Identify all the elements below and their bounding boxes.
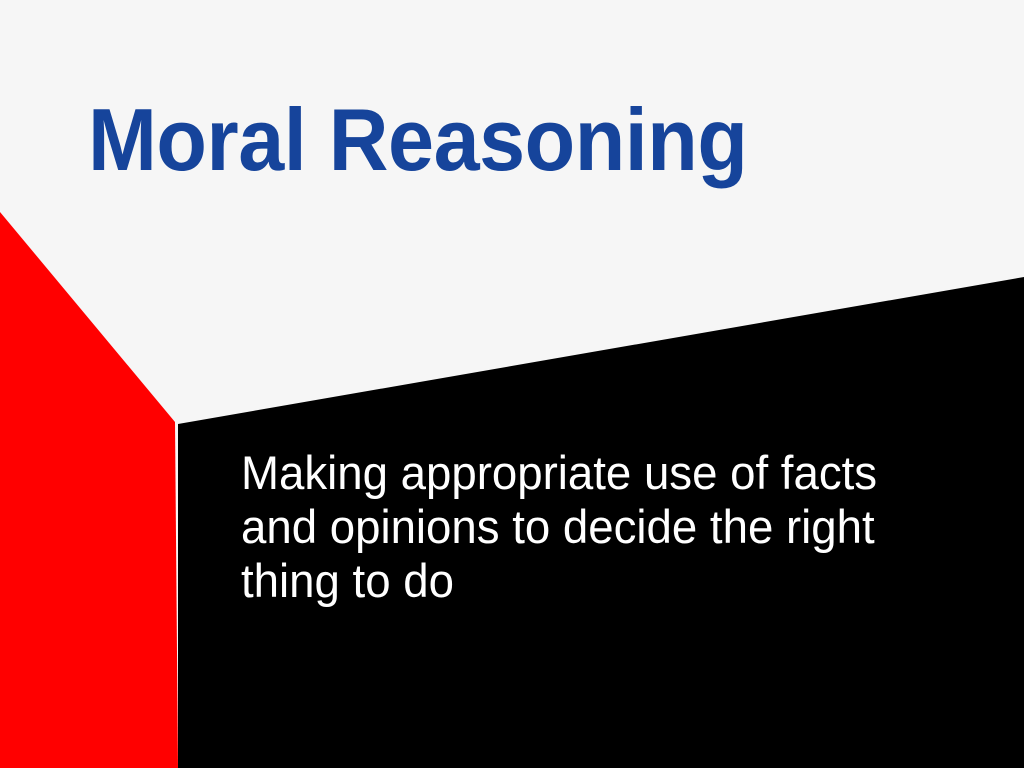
body-line-1: Making appropriate use of facts [241,446,872,500]
slide-title-block: Moral Reasoning [88,96,948,184]
body-line-2: and opinions to decide the right [241,500,872,554]
presentation-slide: Moral Reasoning Making appropriate use o… [0,0,1024,768]
red-wedge-shape [0,212,178,768]
slide-body-block: Making appropriate use of facts and opin… [241,446,891,608]
body-line-3: thing to do [241,554,872,608]
slide-title: Moral Reasoning [88,96,896,184]
slide-body-text: Making appropriate use of facts and opin… [241,446,872,608]
